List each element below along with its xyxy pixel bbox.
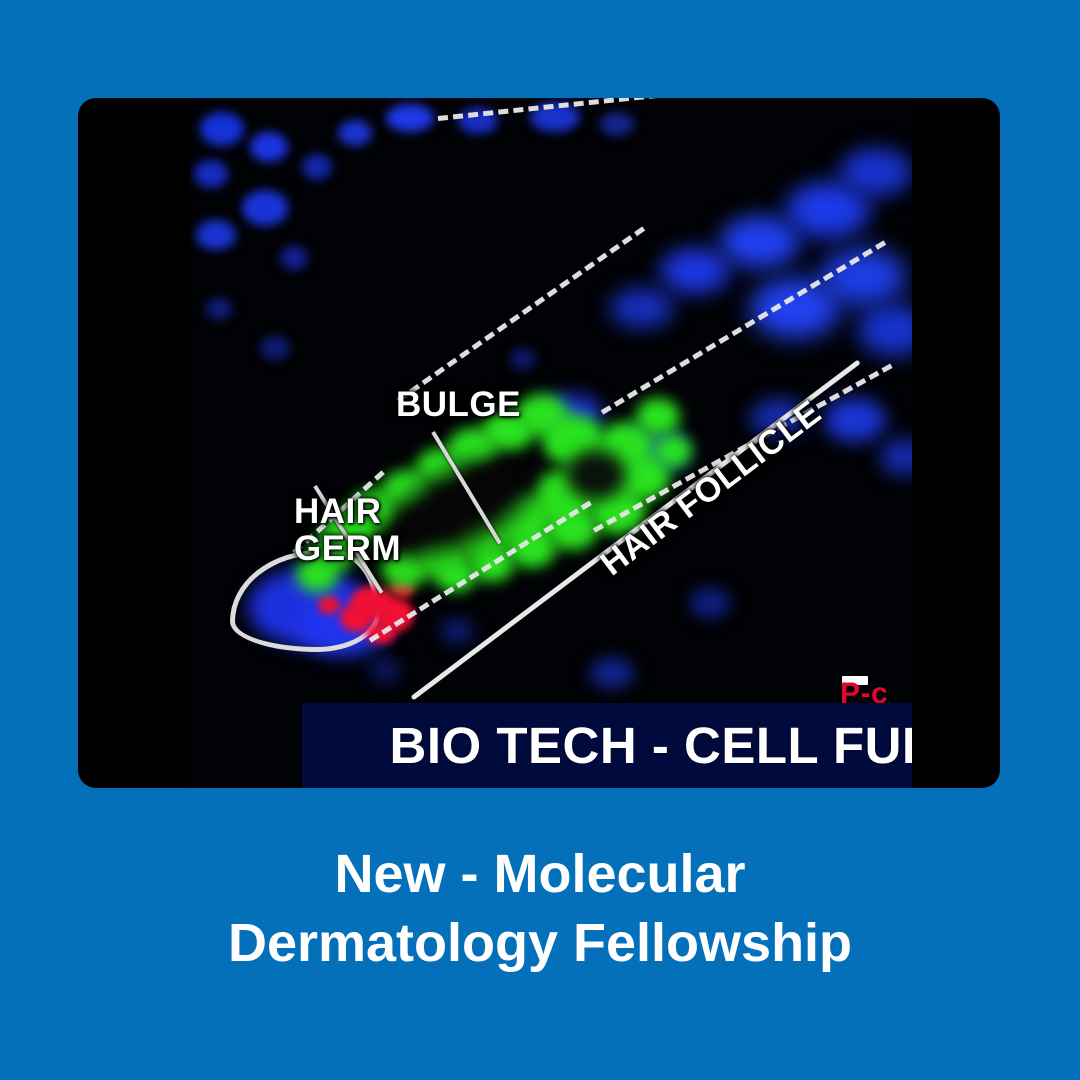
caption-line-1: New - Molecular (0, 840, 1080, 909)
media-card: BULGE HAIR GERM HAIR FOLLICLE P-c BIO TE… (78, 98, 1000, 788)
follicle-dashed-outline (369, 501, 592, 643)
nucleus-blue (590, 658, 634, 688)
nucleus-blue (610, 288, 674, 328)
nucleus-blue (250, 132, 288, 162)
nucleus-blue (824, 398, 886, 442)
nucleus-blue (194, 160, 228, 188)
bulge-green-signal (452, 512, 510, 560)
bulge-green-signal (542, 414, 604, 466)
nucleus-blue (750, 278, 840, 338)
bulge-green-signal (598, 422, 654, 470)
bulge-green-signal (568, 446, 638, 504)
nucleus-blue (690, 588, 730, 618)
poster-root: BULGE HAIR GERM HAIR FOLLICLE P-c BIO TE… (0, 0, 1080, 1080)
nucleus-blue (542, 394, 602, 434)
caption-line-2: Dermatology Fellowship (0, 909, 1080, 978)
nucleus-blue (302, 154, 332, 180)
bulge-green-signal (654, 434, 692, 468)
nucleus-blue (206, 298, 232, 320)
label-hair-germ: HAIR GERM (294, 493, 401, 567)
nucleus-blue (786, 182, 870, 238)
nucleus-blue (880, 438, 912, 476)
nucleus-blue (196, 220, 236, 250)
label-hair-germ-line2: GERM (294, 529, 401, 568)
nucleus-blue (620, 428, 686, 472)
nucleus-blue (660, 248, 730, 294)
nucleus-blue (338, 120, 372, 146)
follicle-dashed-outline (397, 226, 646, 402)
bulge-green-signal (516, 394, 568, 436)
nucleus-blue (840, 148, 912, 196)
follicle-dashed-outline (438, 98, 912, 121)
bulge-green-signal (636, 398, 680, 436)
nucleus-blue (720, 216, 800, 268)
nucleus-blue (370, 658, 400, 682)
bulge-green-signal (416, 448, 466, 488)
bio-tech-banner: BIO TECH - CELL FUE (302, 703, 912, 788)
poster-caption: New - Molecular Dermatology Fellowship (0, 840, 1080, 978)
nucleus-blue (440, 618, 474, 644)
micrograph-image: BULGE HAIR GERM HAIR FOLLICLE P-c BIO TE… (190, 98, 912, 788)
bulge-leader-line (431, 431, 501, 544)
nucleus-blue (260, 336, 290, 360)
nucleus-blue (200, 112, 244, 146)
nucleus-blue (858, 304, 912, 356)
nucleus-blue (242, 190, 288, 226)
nucleus-blue (510, 348, 536, 370)
nucleus-blue (600, 112, 634, 136)
bulge-lumen (566, 450, 626, 500)
hair-germ-red-cells (390, 578, 414, 598)
bulge-green-signal (448, 428, 498, 468)
bio-tech-banner-text: BIO TECH - CELL FUE (390, 716, 912, 775)
nucleus-blue (280, 246, 308, 270)
bulge-green-signal (414, 534, 468, 578)
label-bulge: BULGE (396, 386, 521, 423)
nucleus-blue (386, 104, 434, 132)
label-hair-germ-line1: HAIR (294, 492, 382, 531)
bulge-green-signal (490, 492, 552, 544)
label-hair-follicle: HAIR FOLLICLE (594, 394, 828, 582)
